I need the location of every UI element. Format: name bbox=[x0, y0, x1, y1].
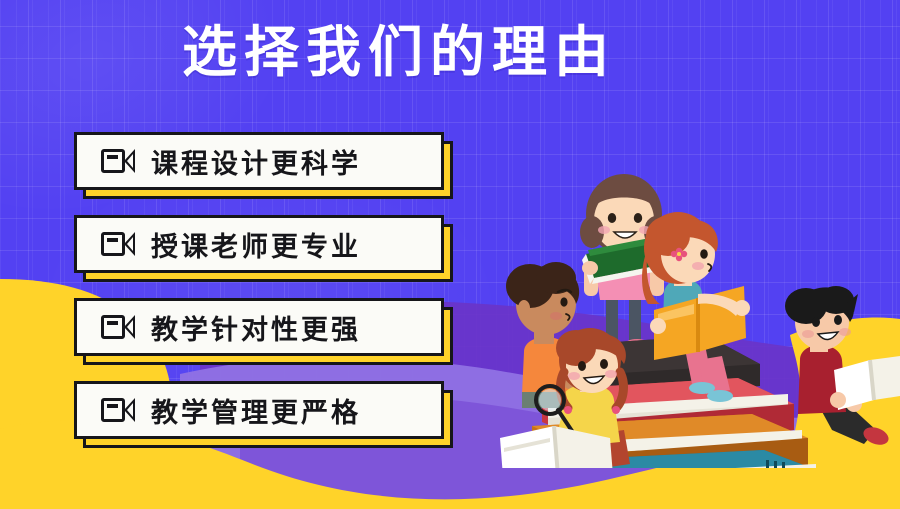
video-camera-icon bbox=[101, 314, 135, 340]
poster-canvas: 选择我们的理由 课程设计更科学 授课老师更专业 bbox=[0, 0, 900, 509]
feature-list: 课程设计更科学 授课老师更专业 教学针对性更强 bbox=[74, 132, 454, 464]
girl-with-magnifier bbox=[500, 328, 630, 468]
feature-label: 教学管理更严格 bbox=[151, 391, 361, 430]
video-camera-icon bbox=[101, 397, 135, 423]
feature-item-1[interactable]: 课程设计更科学 bbox=[74, 132, 444, 190]
feature-label: 授课老师更专业 bbox=[151, 225, 361, 264]
feature-label: 教学针对性更强 bbox=[151, 308, 361, 347]
feature-card[interactable]: 教学针对性更强 bbox=[74, 298, 444, 356]
page-title: 选择我们的理由 bbox=[0, 22, 900, 83]
boy-reading-notebook bbox=[785, 286, 900, 448]
children-reading-illustration bbox=[498, 108, 900, 468]
video-camera-icon bbox=[101, 148, 135, 174]
feature-card[interactable]: 授课老师更专业 bbox=[74, 215, 444, 273]
feature-card[interactable]: 课程设计更科学 bbox=[74, 132, 444, 190]
feature-item-4[interactable]: 教学管理更严格 bbox=[74, 381, 444, 439]
video-camera-icon bbox=[101, 231, 135, 257]
feature-item-3[interactable]: 教学针对性更强 bbox=[74, 298, 444, 356]
feature-label: 课程设计更科学 bbox=[151, 142, 361, 181]
feature-card[interactable]: 教学管理更严格 bbox=[74, 381, 444, 439]
feature-item-2[interactable]: 授课老师更专业 bbox=[74, 215, 444, 273]
